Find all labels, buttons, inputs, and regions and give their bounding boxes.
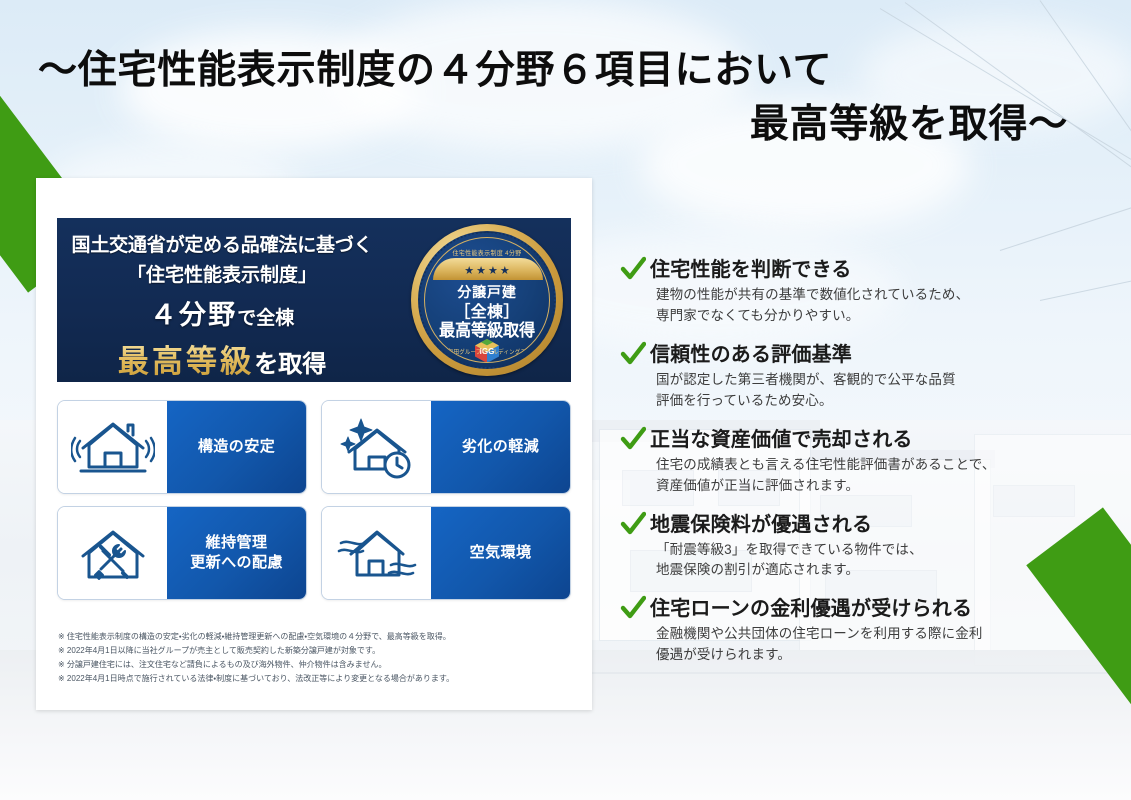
benefit-heading: 地震保険料が優遇される (620, 513, 1120, 537)
benefit-title: 住宅性能を判断できる (650, 258, 852, 282)
benefit-title: 地震保険料が優遇される (650, 513, 872, 537)
benefit-body-line: 住宅の成績表とも言える住宅性能評価書があることで、 (656, 455, 1120, 476)
banner-line-4-suffix: を取得 (254, 351, 326, 378)
benefit-body-line: 評価を行っているため安心。 (656, 391, 1120, 412)
benefit-title: 住宅ローンの金利優遇が受けられる (650, 597, 972, 621)
house-tools-icon (58, 507, 167, 599)
benefit-body-line: 建物の性能が共有の基準で数値化されているため、 (656, 285, 1120, 306)
banner-line-3-suffix: で全棟 (237, 308, 294, 329)
benefit-item: 住宅ローンの金利優遇が受けられる 金融機関や公共団体の住宅ローンを利用する際に金… (620, 597, 1120, 666)
benefit-list: 住宅性能を判断できる 建物の性能が共有の基準で数値化されているため、 専門家でな… (620, 258, 1120, 682)
footnote-item: ※ 分譲戸建住宅には、注文住宅など請負によるもの及び海外物件、仲介物件は含みませ… (58, 658, 578, 672)
benefit-heading: 正当な資産価値で売却される (620, 428, 1120, 452)
benefit-body-line: 「耐震等級3」を取得できている物件では、 (656, 540, 1120, 561)
banner-line-3: ４分野で全棟 (57, 293, 387, 332)
page-title-line2: 最高等級を取得〜 (0, 98, 1090, 152)
banner-line-2: 「住宅性能表示制度」 (57, 260, 387, 287)
feature-box-structure: 構造の安定 (57, 400, 307, 494)
gold-seal-badge: 住宅性能表示制度 4分野 ★★★★ 分譲戸建 ［全棟］ 最高等級取得 IGG (411, 224, 563, 376)
benefit-body-line: 国が認定した第三者機関が、客観的で公平な品質 (656, 370, 1120, 391)
benefit-body: 金融機関や公共団体の住宅ローンを利用する際に金利 優遇が受けられます。 (656, 624, 1120, 666)
seal-top-arc-text: 住宅性能表示制度 4分野 (430, 247, 544, 257)
benefit-body-line: 専門家でなくても分かりやすい。 (656, 306, 1120, 327)
feature-box-degradation: 劣化の軽減 (321, 400, 571, 494)
seal-stars: ★★★★ (464, 266, 511, 280)
house-sparkle-clock-icon (322, 401, 431, 493)
check-icon (620, 256, 646, 282)
benefit-item: 正当な資産価値で売却される 住宅の成績表とも言える住宅性能評価書があることで、 … (620, 428, 1120, 497)
benefit-item: 住宅性能を判断できる 建物の性能が共有の基準で数値化されているため、 専門家でな… (620, 258, 1120, 327)
feature-row-1: 構造の安定 劣化の軽減 (57, 400, 571, 494)
benefit-item: 信頼性のある評価基準 国が認定した第三者機関が、客観的で公平な品質 評価を行って… (620, 343, 1120, 412)
feature-box-air: 空気環境 (321, 506, 571, 600)
feature-label-structure: 構造の安定 (167, 401, 306, 493)
benefit-body: 住宅の成績表とも言える住宅性能評価書があることで、 資産価値が正当に評価されます… (656, 455, 1120, 497)
certification-card: 国土交通省が定める品確法に基づく 「住宅性能表示制度」 ４分野で全棟 最高等級を… (36, 178, 592, 710)
house-shake-icon (58, 401, 167, 493)
page-title-line1: 〜住宅性能表示制度の４分野６項目において (0, 44, 1090, 98)
feature-label-degradation: 劣化の軽減 (431, 401, 570, 493)
benefit-body-line: 優遇が受けられます。 (656, 645, 1120, 666)
benefit-body: 建物の性能が共有の基準で数値化されているため、 専門家でなくても分かりやすい。 (656, 285, 1120, 327)
navy-banner-text: 国土交通省が定める品確法に基づく 「住宅性能表示制度」 ４分野で全棟 最高等級を… (57, 230, 387, 381)
banner-line-4: 最高等級を取得 (57, 336, 387, 381)
banner-line-1: 国土交通省が定める品確法に基づく (57, 230, 387, 257)
benefit-item: 地震保険料が優遇される 「耐震等級3」を取得できている物件では、 地震保険の割引… (620, 513, 1120, 582)
feature-label-maintenance-line2: 更新への配慮 (190, 554, 283, 571)
benefit-body-line: 地震保険の割引が適応されます。 (656, 560, 1120, 581)
benefit-body-line: 金融機関や公共団体の住宅ローンを利用する際に金利 (656, 624, 1120, 645)
navy-banner: 国土交通省が定める品確法に基づく 「住宅性能表示制度」 ４分野で全棟 最高等級を… (57, 218, 571, 382)
benefit-heading: 住宅ローンの金利優遇が受けられる (620, 597, 1120, 621)
feature-label-maintenance-line1: 維持管理 (206, 534, 268, 551)
footnote-item: ※ 2022年4月1日以降に当社グループが売主として販売契約した新築分譲戸建が対… (58, 644, 578, 658)
feature-box-grid: 構造の安定 劣化の軽減 (57, 400, 571, 612)
benefit-heading: 信頼性のある評価基準 (620, 343, 1120, 367)
benefit-heading: 住宅性能を判断できる (620, 258, 1120, 282)
banner-line-3-main: ４分野 (150, 300, 237, 330)
page-title: 〜住宅性能表示制度の４分野６項目において 最高等級を取得〜 (0, 44, 1090, 152)
house-wind-icon (322, 507, 431, 599)
footnote-item: ※ 2022年4月1日時点で施行されている法律・制度に基づいており、法改正等によ… (58, 672, 578, 686)
benefit-title: 正当な資産価値で売却される (650, 428, 913, 452)
power-line (1000, 188, 1131, 251)
feature-label-maintenance: 維持管理 更新への配慮 (167, 507, 306, 599)
slide-canvas: 〜住宅性能表示制度の４分野６項目において 最高等級を取得〜 国土交通省が定める品… (0, 0, 1131, 800)
benefit-body-line: 資産価値が正当に評価されます。 (656, 476, 1120, 497)
seal-core: 住宅性能表示制度 4分野 ★★★★ 分譲戸建 ［全棟］ 最高等級取得 IGG (424, 237, 550, 363)
check-icon (620, 595, 646, 621)
check-icon (620, 426, 646, 452)
banner-line-4-main: 最高等級 (118, 344, 254, 379)
check-icon (620, 341, 646, 367)
check-icon (620, 511, 646, 537)
feature-box-maintenance: 維持管理 更新への配慮 (57, 506, 307, 600)
seal-gold-arc: ★★★★ (433, 258, 543, 280)
benefit-body: 「耐震等級3」を取得できている物件では、 地震保険の割引が適応されます。 (656, 540, 1120, 582)
feature-row-2: 維持管理 更新への配慮 (57, 506, 571, 600)
benefit-title: 信頼性のある評価基準 (650, 343, 852, 367)
feature-label-air: 空気環境 (431, 507, 570, 599)
benefit-body: 国が認定した第三者機関が、客観的で公平な品質 評価を行っているため安心。 (656, 370, 1120, 412)
seal-bottom-arc-text: 飯田グループホールディングス (431, 347, 543, 356)
footnote-item: ※ 住宅性能表示制度の構造の安定・劣化の軽減・維持管理更新への配慮・空気環境の４… (58, 630, 578, 644)
footnote-list: ※ 住宅性能表示制度の構造の安定・劣化の軽減・維持管理更新への配慮・空気環境の４… (58, 630, 578, 686)
